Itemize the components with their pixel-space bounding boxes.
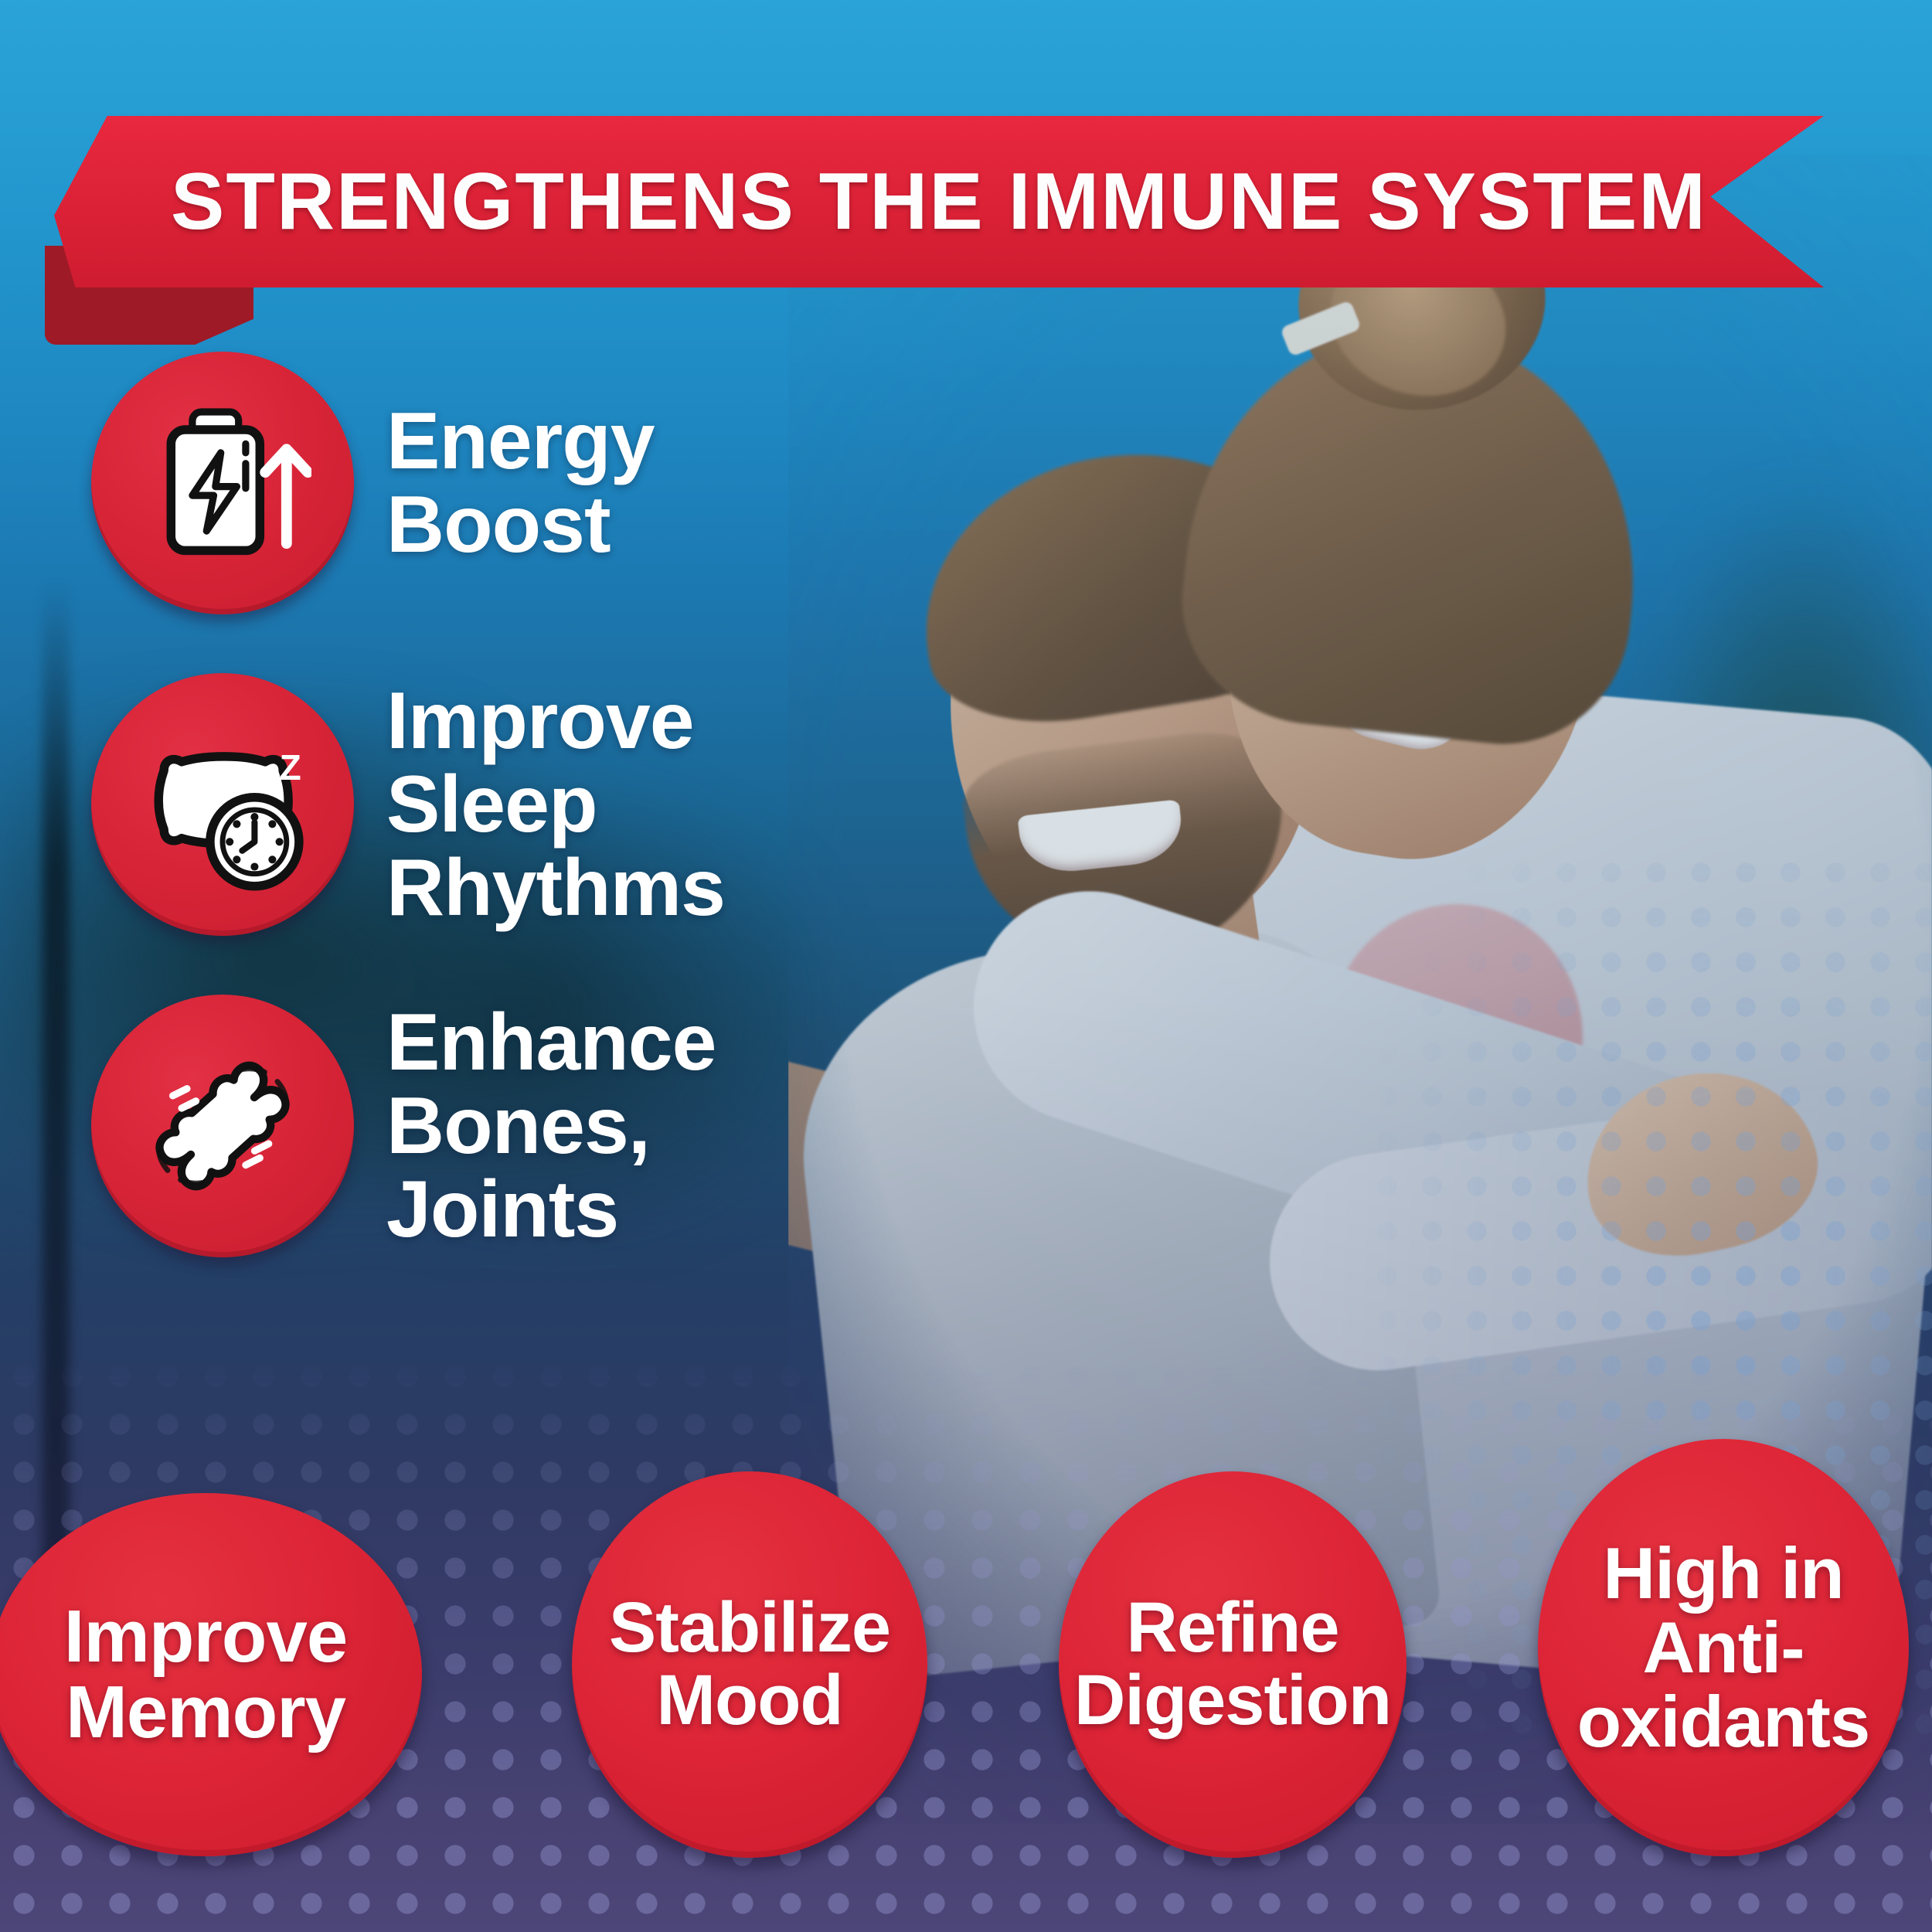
page-title: STRENGTHENS THE IMMUNE SYSTEM: [54, 116, 1824, 287]
benefit-line: Joints: [386, 1168, 716, 1251]
pill-line: Improve: [64, 1599, 347, 1675]
infographic-poster: STRENGTHENS THE IMMUNE SYSTEM: [0, 0, 1932, 1932]
benefit-line: Improve: [386, 679, 725, 763]
pill-line: High in: [1577, 1536, 1870, 1611]
benefit-item-bones-joints[interactable]: Enhance Bones, Joints: [91, 995, 910, 1257]
benefit-line: Energy: [386, 400, 655, 483]
benefit-pill-row: Improve Memory Stabilize Mood Refine Dig…: [0, 1462, 1932, 1895]
pill-refine-digestion[interactable]: Refine Digestion: [1059, 1471, 1406, 1858]
pill-line: Stabilize: [609, 1592, 890, 1665]
benefit-label-energy-boost: Energy Boost: [386, 400, 655, 566]
banner-ribbon: STRENGTHENS THE IMMUNE SYSTEM: [0, 116, 1824, 348]
bones-joints-badge: [91, 995, 354, 1257]
pill-line: Digestion: [1074, 1665, 1391, 1737]
benefit-line: Boost: [386, 483, 655, 566]
energy-boost-badge: [91, 352, 354, 614]
benefit-line: Rhythms: [386, 846, 725, 930]
benefit-line: Sleep: [386, 763, 725, 846]
battery-lightning-up-arrow-icon: [134, 394, 311, 572]
pill-line: Mood: [609, 1665, 890, 1737]
pill-label: Refine Digestion: [1074, 1592, 1391, 1737]
pill-high-in-antioxidants[interactable]: High in Anti- oxidants: [1538, 1439, 1909, 1856]
benefit-label-bones-joints: Enhance Bones, Joints: [386, 1001, 716, 1251]
pill-label: Stabilize Mood: [609, 1592, 890, 1737]
pillow-clock-zzz-icon: z Z: [134, 716, 311, 893]
svg-text:Z: Z: [280, 747, 301, 787]
pill-improve-memory[interactable]: Improve Memory: [0, 1493, 422, 1856]
sleep-rhythms-badge: z Z: [91, 673, 354, 936]
pill-label: Improve Memory: [64, 1599, 347, 1750]
pill-stabilize-mood[interactable]: Stabilize Mood: [572, 1471, 927, 1858]
benefit-line: Enhance: [386, 1001, 716, 1084]
pill-line: Refine: [1074, 1592, 1391, 1665]
benefit-item-energy-boost[interactable]: Energy Boost: [91, 352, 910, 614]
benefit-label-sleep-rhythms: Improve Sleep Rhythms: [386, 679, 725, 930]
benefit-line: Bones,: [386, 1084, 716, 1168]
bone-sparkle-icon: [134, 1037, 311, 1215]
pill-label: High in Anti- oxidants: [1577, 1536, 1870, 1759]
svg-text:z: z: [265, 767, 278, 797]
benefit-item-sleep-rhythms[interactable]: z Z Improve Sleep Rhythms: [91, 673, 910, 936]
pill-line: Memory: [64, 1675, 347, 1750]
pill-line: Anti-: [1577, 1611, 1870, 1685]
benefit-list: Energy Boost: [91, 352, 910, 1316]
pill-line: oxidants: [1577, 1685, 1870, 1759]
